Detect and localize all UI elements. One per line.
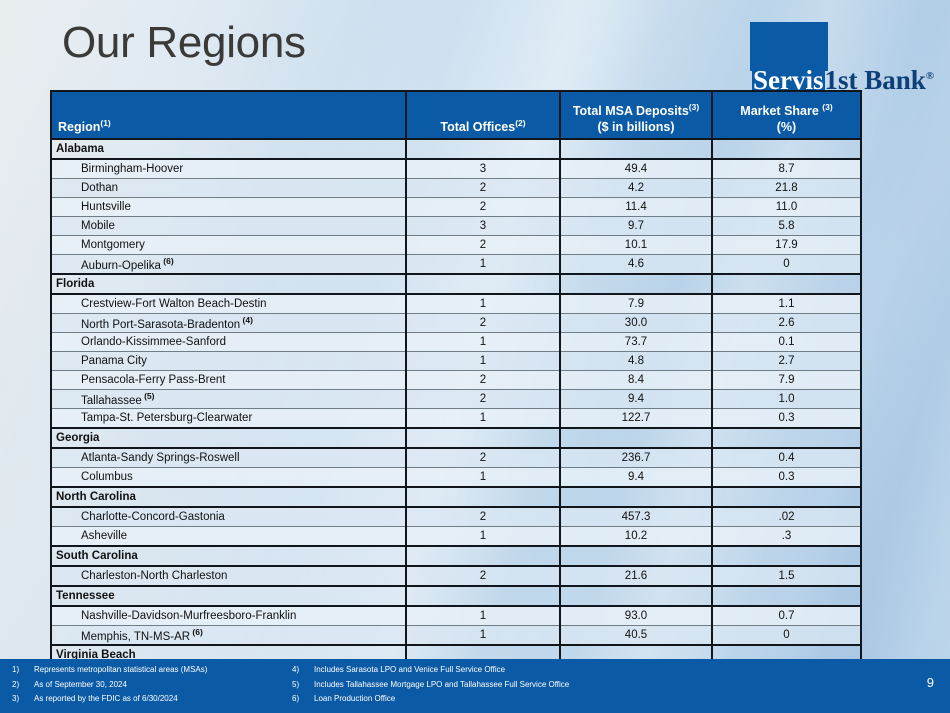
column-header-offices-label: Total Offices — [440, 120, 515, 134]
cell-total-msa-deposits: 73.7 — [560, 333, 712, 352]
cell-total-msa-deposits: 93.0 — [560, 606, 712, 626]
cell-total-msa-deposits: 4.8 — [560, 352, 712, 371]
footnote-text: Represents metropolitan statistical area… — [34, 663, 207, 678]
cell-total-msa-deposits: 9.4 — [560, 390, 712, 409]
cell-region: Auburn-Opelika (6) — [52, 255, 406, 275]
table-row: Auburn-Opelika (6)14.60 — [52, 255, 860, 275]
footnote-text: As reported by the FDIC as of 6/30/2024 — [34, 692, 178, 707]
cell-region: Birmingham-Hoover — [52, 159, 406, 179]
column-header-share-units: (%) — [777, 120, 796, 134]
cell-region: Columbus — [52, 468, 406, 488]
page-number: 9 — [927, 675, 934, 690]
table-row-state-header: Florida — [52, 274, 860, 294]
cell-market-share: 0 — [712, 255, 860, 275]
cell-market-share: 0 — [712, 626, 860, 646]
cell-total-msa-deposits: 122.7 — [560, 409, 712, 429]
cell-region-footnote: (6) — [190, 627, 203, 637]
cell-region: Crestview-Fort Walton Beach-Destin — [52, 294, 406, 314]
cell-total-msa-deposits: 9.7 — [560, 217, 712, 236]
cell-total-offices: 3 — [406, 159, 560, 179]
cell-total-msa-deposits: 9.4 — [560, 468, 712, 488]
column-header-deposits-footnote: (3) — [689, 102, 699, 112]
footnote-text: As of September 30, 2024 — [34, 678, 127, 693]
footnote-item: 4)Includes Sarasota LPO and Venice Full … — [292, 663, 792, 678]
table-row-state-header: Alabama — [52, 139, 860, 159]
cell-total-msa-deposits — [560, 487, 712, 507]
cell-total-offices: 2 — [406, 236, 560, 255]
cell-market-share — [712, 428, 860, 448]
cell-region: Huntsville — [52, 198, 406, 217]
cell-total-msa-deposits: 457.3 — [560, 507, 712, 527]
footnote-item: 1)Represents metropolitan statistical ar… — [12, 663, 282, 678]
cell-region: Georgia — [52, 428, 406, 448]
cell-total-offices — [406, 586, 560, 606]
footnote-number: 1) — [12, 663, 34, 678]
cell-market-share — [712, 546, 860, 566]
table-row-state-header: Georgia — [52, 428, 860, 448]
cell-total-offices — [406, 139, 560, 159]
cell-total-msa-deposits: 8.4 — [560, 371, 712, 390]
table-row: Memphis, TN-MS-AR (6)140.50 — [52, 626, 860, 646]
cell-region: Dothan — [52, 179, 406, 198]
cell-region: North Carolina — [52, 487, 406, 507]
table-row: North Port-Sarasota-Bradenton (4)230.02.… — [52, 314, 860, 333]
column-header-region-footnote: (1) — [100, 118, 110, 128]
cell-region: Pensacola-Ferry Pass-Brent — [52, 371, 406, 390]
table-row: Mobile39.75.8 — [52, 217, 860, 236]
table-row: Asheville110.2.3 — [52, 527, 860, 547]
cell-market-share: 2.6 — [712, 314, 860, 333]
cell-region: Nashville-Davidson-Murfreesboro-Franklin — [52, 606, 406, 626]
cell-total-offices — [406, 428, 560, 448]
cell-total-msa-deposits: 10.2 — [560, 527, 712, 547]
cell-total-msa-deposits — [560, 274, 712, 294]
registered-trademark-icon: ® — [926, 70, 934, 82]
footnote-number: 5) — [292, 678, 314, 693]
table-row: Charlotte-Concord-Gastonia2457.3.02 — [52, 507, 860, 527]
page-title: Our Regions — [62, 21, 306, 65]
cell-market-share: 2.7 — [712, 352, 860, 371]
cell-market-share — [712, 274, 860, 294]
cell-total-msa-deposits: 4.2 — [560, 179, 712, 198]
column-header-region-label: Region — [58, 120, 100, 134]
logo-blue-square — [750, 22, 828, 71]
cell-total-offices: 2 — [406, 371, 560, 390]
cell-total-offices: 1 — [406, 527, 560, 547]
cell-market-share: 1.5 — [712, 566, 860, 586]
cell-market-share — [712, 487, 860, 507]
table-row: Dothan24.221.8 — [52, 179, 860, 198]
cell-total-msa-deposits: 21.6 — [560, 566, 712, 586]
table-row: Panama City14.82.7 — [52, 352, 860, 371]
cell-total-offices: 2 — [406, 314, 560, 333]
column-header-deposits-units: ($ in billions) — [597, 120, 674, 134]
footnote-text: Loan Production Office — [314, 692, 395, 707]
footnote-text: Includes Tallahassee Mortgage LPO and Ta… — [314, 678, 569, 693]
cell-market-share: 0.3 — [712, 468, 860, 488]
cell-market-share: 11.0 — [712, 198, 860, 217]
footnote-item: 5)Includes Tallahassee Mortgage LPO and … — [292, 678, 792, 693]
cell-region: Florida — [52, 274, 406, 294]
column-header-deposits-label: Total MSA Deposits — [573, 105, 689, 119]
cell-total-offices: 1 — [406, 294, 560, 314]
cell-total-offices: 1 — [406, 409, 560, 429]
cell-total-msa-deposits: 7.9 — [560, 294, 712, 314]
cell-total-msa-deposits — [560, 586, 712, 606]
cell-market-share: 5.8 — [712, 217, 860, 236]
cell-total-offices: 1 — [406, 352, 560, 371]
cell-total-offices: 3 — [406, 217, 560, 236]
cell-region: Orlando-Kissimmee-Sanford — [52, 333, 406, 352]
cell-total-msa-deposits: 4.6 — [560, 255, 712, 275]
cell-total-offices: 1 — [406, 626, 560, 646]
column-header-market-share: Market Share (3)(%) — [712, 92, 860, 139]
table-row: Orlando-Kissimmee-Sanford173.70.1 — [52, 333, 860, 352]
regions-table: Region(1) Total Offices(2) Total MSA Dep… — [52, 92, 860, 706]
table-row: Crestview-Fort Walton Beach-Destin17.91.… — [52, 294, 860, 314]
table-row: Montgomery210.117.9 — [52, 236, 860, 255]
column-header-total-offices: Total Offices(2) — [406, 92, 560, 139]
footnote-number: 2) — [12, 678, 34, 693]
cell-market-share: .3 — [712, 527, 860, 547]
cell-total-offices: 1 — [406, 255, 560, 275]
cell-region-footnote: (5) — [142, 391, 155, 401]
table-row: Birmingham-Hoover349.48.7 — [52, 159, 860, 179]
table-row: Charleston-North Charleston221.61.5 — [52, 566, 860, 586]
cell-region: Tennessee — [52, 586, 406, 606]
cell-total-offices: 1 — [406, 333, 560, 352]
servisfirst-bank-logo: Servis1st Bank® — [750, 22, 946, 92]
cell-region: Montgomery — [52, 236, 406, 255]
cell-total-msa-deposits: 236.7 — [560, 448, 712, 468]
table-row-state-header: North Carolina — [52, 487, 860, 507]
cell-market-share: 0.4 — [712, 448, 860, 468]
cell-region: Tallahassee (5) — [52, 390, 406, 409]
cell-total-msa-deposits: 30.0 — [560, 314, 712, 333]
cell-region: Memphis, TN-MS-AR (6) — [52, 626, 406, 646]
cell-total-msa-deposits — [560, 428, 712, 448]
column-header-offices-footnote: (2) — [515, 118, 525, 128]
cell-region: South Carolina — [52, 546, 406, 566]
cell-total-offices: 1 — [406, 606, 560, 626]
cell-market-share: 17.9 — [712, 236, 860, 255]
cell-region: Alabama — [52, 139, 406, 159]
cell-market-share: 8.7 — [712, 159, 860, 179]
footnotes-left-column: 1)Represents metropolitan statistical ar… — [12, 663, 282, 707]
footnotes-right-column: 4)Includes Sarasota LPO and Venice Full … — [292, 663, 792, 707]
table-header-row: Region(1) Total Offices(2) Total MSA Dep… — [52, 92, 860, 139]
table-row: Pensacola-Ferry Pass-Brent28.47.9 — [52, 371, 860, 390]
cell-total-offices: 2 — [406, 566, 560, 586]
cell-market-share: 0.7 — [712, 606, 860, 626]
cell-total-offices: 2 — [406, 448, 560, 468]
cell-total-offices: 2 — [406, 179, 560, 198]
cell-region: Asheville — [52, 527, 406, 547]
cell-total-offices — [406, 274, 560, 294]
table-row: Nashville-Davidson-Murfreesboro-Franklin… — [52, 606, 860, 626]
cell-region-footnote: (4) — [240, 315, 253, 325]
table-row: Huntsville211.411.0 — [52, 198, 860, 217]
cell-market-share: 1.1 — [712, 294, 860, 314]
footnote-item: 6)Loan Production Office — [292, 692, 792, 707]
cell-total-msa-deposits — [560, 139, 712, 159]
cell-total-offices: 1 — [406, 468, 560, 488]
cell-total-msa-deposits: 49.4 — [560, 159, 712, 179]
cell-total-offices: 2 — [406, 198, 560, 217]
cell-total-offices: 2 — [406, 507, 560, 527]
cell-market-share: 0.3 — [712, 409, 860, 429]
cell-total-msa-deposits — [560, 546, 712, 566]
cell-total-offices: 2 — [406, 390, 560, 409]
cell-total-offices — [406, 487, 560, 507]
cell-market-share: 21.8 — [712, 179, 860, 198]
cell-region: Atlanta-Sandy Springs-Roswell — [52, 448, 406, 468]
footnote-number: 3) — [12, 692, 34, 707]
cell-total-msa-deposits: 10.1 — [560, 236, 712, 255]
footnote-number: 4) — [292, 663, 314, 678]
footnote-item: 3)As reported by the FDIC as of 6/30/202… — [12, 692, 282, 707]
table-row: Columbus19.40.3 — [52, 468, 860, 488]
column-header-share-footnote: (3) — [822, 102, 832, 112]
cell-market-share — [712, 139, 860, 159]
cell-total-offices — [406, 546, 560, 566]
table-row-state-header: South Carolina — [52, 546, 860, 566]
cell-region: Charlotte-Concord-Gastonia — [52, 507, 406, 527]
cell-total-msa-deposits: 11.4 — [560, 198, 712, 217]
table-body: AlabamaBirmingham-Hoover349.48.7Dothan24… — [52, 139, 860, 706]
cell-market-share — [712, 586, 860, 606]
cell-region: Tampa-St. Petersburg-Clearwater — [52, 409, 406, 429]
footnote-text: Includes Sarasota LPO and Venice Full Se… — [314, 663, 505, 678]
table-row: Tallahassee (5)29.41.0 — [52, 390, 860, 409]
cell-market-share: 1.0 — [712, 390, 860, 409]
column-header-share-label: Market Share — [740, 105, 819, 119]
cell-region: Charleston-North Charleston — [52, 566, 406, 586]
footnote-item: 2)As of September 30, 2024 — [12, 678, 282, 693]
cell-total-msa-deposits: 40.5 — [560, 626, 712, 646]
table-row: Atlanta-Sandy Springs-Roswell2236.70.4 — [52, 448, 860, 468]
slide-footer: 1)Represents metropolitan statistical ar… — [0, 659, 950, 713]
cell-region-footnote: (6) — [161, 256, 174, 266]
column-header-region: Region(1) — [52, 92, 406, 139]
cell-region: North Port-Sarasota-Bradenton (4) — [52, 314, 406, 333]
table-row-state-header: Tennessee — [52, 586, 860, 606]
regions-table-container: Region(1) Total Offices(2) Total MSA Dep… — [50, 90, 862, 708]
cell-region: Mobile — [52, 217, 406, 236]
cell-market-share: .02 — [712, 507, 860, 527]
cell-region: Panama City — [52, 352, 406, 371]
cell-market-share: 7.9 — [712, 371, 860, 390]
footnote-number: 6) — [292, 692, 314, 707]
cell-market-share: 0.1 — [712, 333, 860, 352]
table-header: Region(1) Total Offices(2) Total MSA Dep… — [52, 92, 860, 139]
table-row: Tampa-St. Petersburg-Clearwater1122.70.3 — [52, 409, 860, 429]
column-header-total-msa-deposits: Total MSA Deposits(3)($ in billions) — [560, 92, 712, 139]
